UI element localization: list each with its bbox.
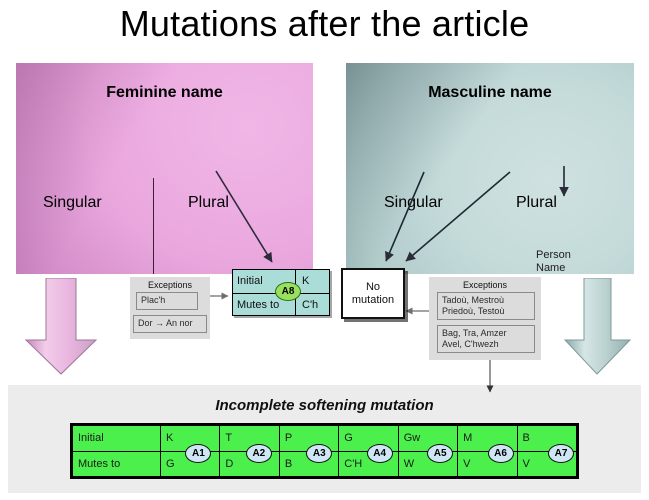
badge-a2[interactable]: A2 (246, 444, 272, 463)
exception-r1-line2: Priedoù, Testoù (442, 306, 530, 317)
exception-r2-line2: Avel, C'hwezh (442, 339, 530, 350)
masculine-plural-label: Plural (516, 194, 557, 212)
exceptions-left-title: Exceptions (130, 280, 210, 290)
person-note-line2: Name (536, 262, 622, 274)
exception-r2-line1: Bag, Tra, Amzer (442, 328, 530, 339)
badge-a4[interactable]: A4 (367, 444, 393, 463)
masculine-flow-arrow (561, 278, 635, 381)
softening-initial-label: Initial (73, 426, 161, 452)
incomplete-softening-panel: Incomplete softening mutation Initial KT… (8, 385, 641, 493)
no-mutation-line1: No (366, 281, 380, 293)
no-mutation-line2: mutation (352, 294, 394, 306)
feminine-flow-arrow (18, 278, 104, 381)
exception-item-bag-tra: Bag, Tra, Amzer Avel, C'hwezh (437, 325, 535, 353)
article-mutation-table: Initial K Mutes to C'h A8 (232, 269, 330, 316)
softening-mutes-label: Mutes to (73, 451, 161, 477)
exceptions-group-feminine: Exceptions Plac'h Dor → An nor (130, 277, 210, 339)
badge-a5[interactable]: A5 (427, 444, 453, 463)
exception-item-plach: Plac'h (136, 292, 198, 310)
person-name-note: Person Name if the plural is not in « où… (536, 249, 622, 274)
badge-a6[interactable]: A6 (488, 444, 514, 463)
exception-item-dor-annor: Dor → An nor (133, 315, 207, 333)
exception-item-tadou: Tadoù, Mestroù Priedoù, Testoù (437, 292, 535, 320)
page-title: Mutations after the article (0, 2, 649, 46)
no-mutation-box: No mutation (341, 268, 405, 319)
feminine-panel-title: Feminine name (16, 84, 313, 102)
bottom-panel-title: Incomplete softening mutation (8, 397, 641, 414)
exceptions-group-masculine: Exceptions Tadoù, Mestroù Priedoù, Testo… (429, 277, 541, 360)
feminine-name-panel: Feminine name Singular Plural (16, 63, 313, 274)
badge-a8[interactable]: A8 (275, 282, 301, 301)
feminine-singular-label: Singular (43, 194, 102, 212)
masculine-singular-label: Singular (384, 194, 443, 212)
person-note-line1: Person (536, 249, 622, 262)
slide-canvas: Mutations after the article Feminine nam… (0, 0, 649, 500)
masculine-name-panel: Masculine name Singular Plural Person Na… (346, 63, 634, 274)
feminine-plural-label: Plural (188, 194, 229, 212)
exception-r1-line1: Tadoù, Mestroù (442, 295, 530, 306)
feminine-panel-divider (153, 178, 154, 274)
mid-table-mutes-value: C'h (295, 294, 329, 317)
no-mutation-text: No mutation (352, 281, 394, 307)
badge-a7[interactable]: A7 (548, 444, 574, 463)
masculine-panel-title: Masculine name (346, 84, 634, 102)
softening-mutation-table: Initial KTPGGwMB Mutes to GDBC'HWVV A1A2… (70, 423, 579, 479)
exceptions-right-title: Exceptions (429, 280, 541, 290)
